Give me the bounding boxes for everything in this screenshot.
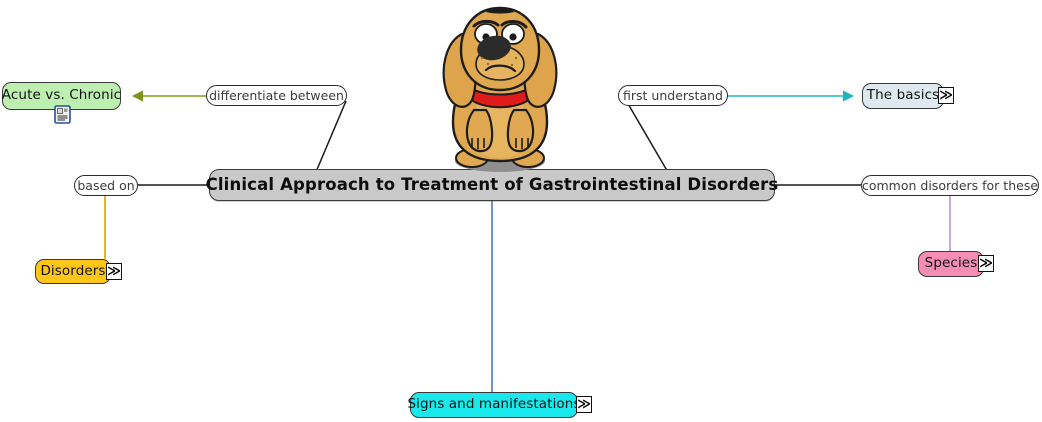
node-label: The basics — [867, 89, 939, 103]
edge-label-text: first understand — [623, 88, 723, 103]
mindmap-canvas: Clinical Approach to Treatment of Gastro… — [0, 0, 1042, 422]
node-label: Signs and manifestations — [407, 398, 580, 412]
fold-marker-the-basics[interactable]: ≫ — [938, 87, 954, 104]
node-label: Species — [925, 257, 978, 271]
chevron-double-right-icon: ≫ — [577, 398, 591, 411]
chevron-double-right-icon: ≫ — [939, 89, 953, 102]
chevron-double-right-icon: ≫ — [107, 265, 121, 278]
node-disorders[interactable]: Disorders — [35, 259, 111, 284]
fold-marker-disorders[interactable]: ≫ — [106, 263, 122, 280]
edge-label-common-disorders-for-these[interactable]: common disorders for these — [861, 175, 1039, 196]
edge-label-text: common disorders for these — [862, 178, 1038, 193]
node-the-basics[interactable]: The basics — [862, 83, 944, 109]
sad-dog-illustration — [420, 0, 580, 176]
edge-label-based-on[interactable]: based on — [74, 175, 138, 196]
edge-label-differentiate-between[interactable]: differentiate between — [206, 85, 347, 106]
node-label: Acute vs. Chronic — [2, 89, 121, 103]
edge-label-first-understand[interactable]: first understand — [618, 85, 728, 106]
note-attachment-icon[interactable] — [54, 105, 71, 124]
edge-label-text: based on — [77, 178, 134, 193]
edge-label-text: differentiate between — [209, 88, 344, 103]
fold-marker-species[interactable]: ≫ — [978, 255, 994, 272]
fold-marker-signs-and-manifestations[interactable]: ≫ — [576, 396, 592, 413]
node-label: Disorders — [40, 265, 105, 279]
chevron-double-right-icon: ≫ — [979, 257, 993, 270]
node-species[interactable]: Species — [918, 251, 984, 277]
node-signs-and-manifestations[interactable]: Signs and manifestations — [410, 392, 578, 418]
central-node-label: Clinical Approach to Treatment of Gastro… — [206, 177, 779, 194]
